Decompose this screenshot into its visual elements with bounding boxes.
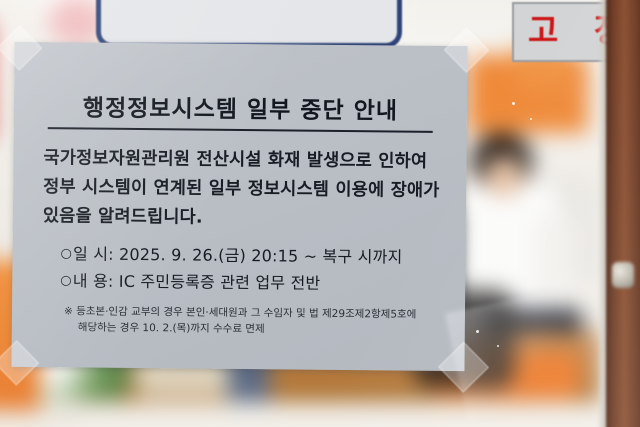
upper-blue-sign (96, 0, 402, 48)
asterisk-mark-icon: ※ (64, 305, 73, 317)
notice-title: 행정정보시스템 일부 중단 안내 (48, 88, 433, 133)
dust-speck (497, 345, 499, 347)
notice-item-scope: ○내 용: IC 주민등록증 관련 업무 전반 (60, 267, 439, 298)
notice-item-datetime-label: 일 시: (73, 244, 114, 263)
notice-item-datetime-value: 2025. 9. 26.(금) 20:15 ~ 복구 시까지 (119, 245, 403, 267)
notice-item-datetime: ○일 시: 2025. 9. 26.(금) 20:15 ~ 복구 시까지 (60, 240, 439, 271)
wooden-post (606, 0, 640, 427)
notice-footnote-text-1: 등초본·인감 교부의 경우 본인·세대원과 그 수임자 및 법 제29조제2항제… (76, 305, 416, 320)
dust-speck (530, 118, 532, 120)
notice-sign: 행정정보시스템 일부 중단 안내 국가정보자원관리원 전산시설 화재 발생으로 … (11, 42, 467, 371)
bullet-icon: ○ (60, 273, 72, 288)
photo-scene: 고 정 행정정보시스템 일부 중단 안내 국가정보자원관리원 전산시설 화재 발… (0, 0, 640, 427)
notice-item-scope-label: 내 용: (73, 271, 114, 290)
dust-speck (476, 330, 479, 333)
bullet-icon: ○ (60, 246, 72, 261)
notice-body-line-2: 정부 시스템이 연계된 일부 정보시스템 이용에 장애가 (43, 173, 440, 206)
notice-body: 국가정보자원관리원 전산시설 화재 발생으로 인하여 정부 시스템이 연계된 일… (43, 144, 441, 235)
door-knob (612, 262, 634, 288)
notice-body-line-1: 국가정보자원관리원 전산시설 화재 발생으로 인하여 (43, 144, 440, 177)
person-face (485, 156, 523, 196)
dust-speck (512, 102, 515, 105)
notice-body-line-3: 있음을 알려드립니다. (43, 202, 440, 235)
notice-detail-list: ○일 시: 2025. 9. 26.(금) 20:15 ~ 복구 시까지 ○내 … (60, 240, 440, 298)
notice-item-scope-value: IC 주민등록증 관련 업무 전반 (119, 272, 321, 293)
notice-footnote: ※ 등초본·인감 교부의 경우 본인·세대원과 그 수임자 및 법 제29조제2… (64, 303, 439, 339)
